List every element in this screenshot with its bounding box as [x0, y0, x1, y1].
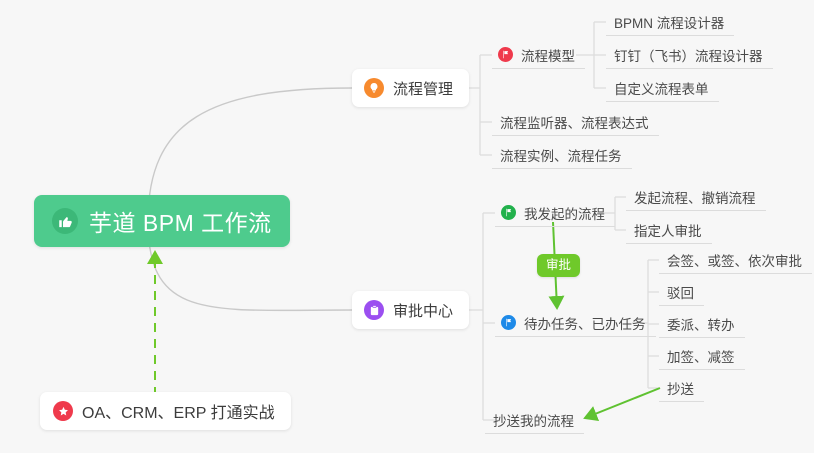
node-label: 会签、或签、依次审批: [667, 250, 802, 270]
node-label: 流程模型: [521, 45, 575, 65]
star-icon: [53, 401, 73, 421]
badge-label: 审批: [546, 258, 571, 272]
thumbs-up-icon: [52, 208, 78, 234]
node-label: BPMN 流程设计器: [614, 12, 724, 32]
node-label: 待办任务、已办任务: [524, 313, 646, 333]
node-start-cancel-process[interactable]: 发起流程、撤销流程: [626, 183, 766, 211]
node-my-started-process[interactable]: 我发起的流程: [495, 199, 615, 227]
node-label: 指定人审批: [634, 220, 702, 240]
node-todo-done-task[interactable]: 待办任务、已办任务: [495, 309, 656, 337]
integration-note-card[interactable]: OA、CRM、ERP 打通实战: [40, 392, 291, 430]
lightbulb-icon: [364, 78, 384, 98]
approval-badge[interactable]: 审批: [537, 254, 580, 277]
arrow-cc-to-process: [585, 388, 660, 418]
root-node[interactable]: 芋道 BPM 工作流: [34, 195, 290, 247]
branch-label: 流程管理: [393, 78, 453, 99]
node-custom-process-form[interactable]: 自定义流程表单: [606, 74, 719, 102]
node-label: 发起流程、撤销流程: [634, 187, 756, 207]
branch-process-management[interactable]: 流程管理: [352, 69, 469, 107]
node-add-remove-sign[interactable]: 加签、减签: [659, 342, 745, 370]
node-label: 流程实例、流程任务: [500, 145, 622, 165]
node-label: 抄送: [667, 378, 694, 398]
flag-red-icon: [498, 47, 513, 62]
node-reject[interactable]: 驳回: [659, 278, 704, 306]
node-process-model[interactable]: 流程模型: [492, 41, 585, 69]
node-label: 加签、减签: [667, 346, 735, 366]
integration-note-label: OA、CRM、ERP 打通实战: [82, 399, 275, 423]
node-label: 驳回: [667, 282, 694, 302]
flag-green-icon: [501, 205, 516, 220]
node-cc-to-me-process[interactable]: 抄送我的流程: [485, 406, 584, 434]
node-label: 我发起的流程: [524, 203, 605, 223]
node-cc[interactable]: 抄送: [659, 374, 704, 402]
node-label: 抄送我的流程: [493, 410, 574, 430]
node-listener-expression[interactable]: 流程监听器、流程表达式: [492, 108, 659, 136]
node-label: 流程监听器、流程表达式: [500, 112, 649, 132]
node-bpmn-designer[interactable]: BPMN 流程设计器: [606, 8, 734, 36]
branch-approval-center[interactable]: 审批中心: [352, 291, 469, 329]
node-label: 钉钉（飞书）流程设计器: [614, 45, 763, 65]
node-dingtalk-feishu-designer[interactable]: 钉钉（飞书）流程设计器: [606, 41, 773, 69]
node-instance-task[interactable]: 流程实例、流程任务: [492, 141, 632, 169]
node-countersign[interactable]: 会签、或签、依次审批: [659, 246, 812, 274]
flag-blue-icon: [501, 315, 516, 330]
branch-label: 审批中心: [393, 300, 453, 321]
node-assignee-approval[interactable]: 指定人审批: [626, 216, 712, 244]
mindmap-canvas: 芋道 BPM 工作流 流程管理 流程模型 BPMN 流程设计器 钉钉（飞书）流程…: [0, 0, 814, 453]
clipboard-icon: [364, 300, 384, 320]
root-label: 芋道 BPM 工作流: [89, 204, 272, 238]
node-label: 自定义流程表单: [614, 78, 709, 98]
node-delegate-transfer[interactable]: 委派、转办: [659, 310, 745, 338]
node-label: 委派、转办: [667, 314, 735, 334]
